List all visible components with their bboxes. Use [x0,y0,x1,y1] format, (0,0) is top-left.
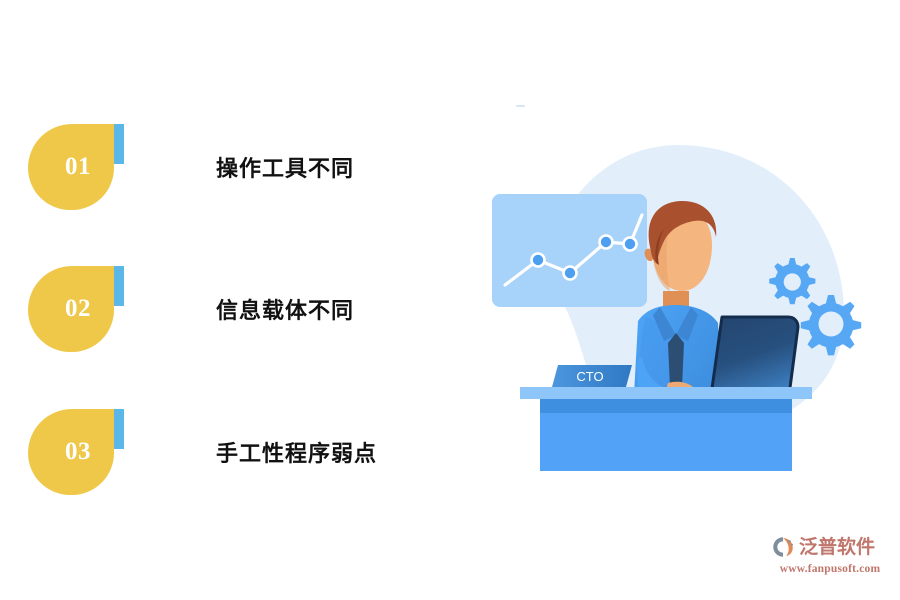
number-badge: 03 [28,409,124,495]
badge-number: 01 [28,124,114,210]
watermark-logo: 泛普软件 www.fanpusoft.com [770,534,890,586]
list-item-label: 操作工具不同 [216,124,354,210]
cto-at-desk-illustration: CTO [470,95,880,490]
gear-small-icon [769,258,815,304]
chart-panel [492,194,647,307]
badge-number: 03 [28,409,114,495]
watermark-brand: 泛普软件 [799,538,875,557]
list-item[interactable]: 02 信息载体不同 [0,266,440,356]
feature-list: 01 操作工具不同 02 信息载体不同 03 手工性程序弱点 [0,0,440,600]
list-item-label: 信息载体不同 [216,266,354,352]
list-item[interactable]: 03 手工性程序弱点 [0,409,440,499]
decorative-dash [516,105,525,107]
number-badge: 02 [28,266,124,352]
badge-number: 02 [28,266,114,352]
watermark-url: www.fanpusoft.com [770,563,890,575]
fanpu-logo-icon [770,534,796,560]
list-item[interactable]: 01 操作工具不同 [0,124,440,214]
gear-large-icon [801,295,861,355]
list-item-label: 手工性程序弱点 [216,409,377,495]
desk [520,387,812,471]
number-badge: 01 [28,124,124,210]
nameplate-label: CTO [576,369,603,384]
slide-canvas: 01 操作工具不同 02 信息载体不同 03 手工性程序弱点 [0,0,900,600]
nameplate: CTO [552,365,632,387]
